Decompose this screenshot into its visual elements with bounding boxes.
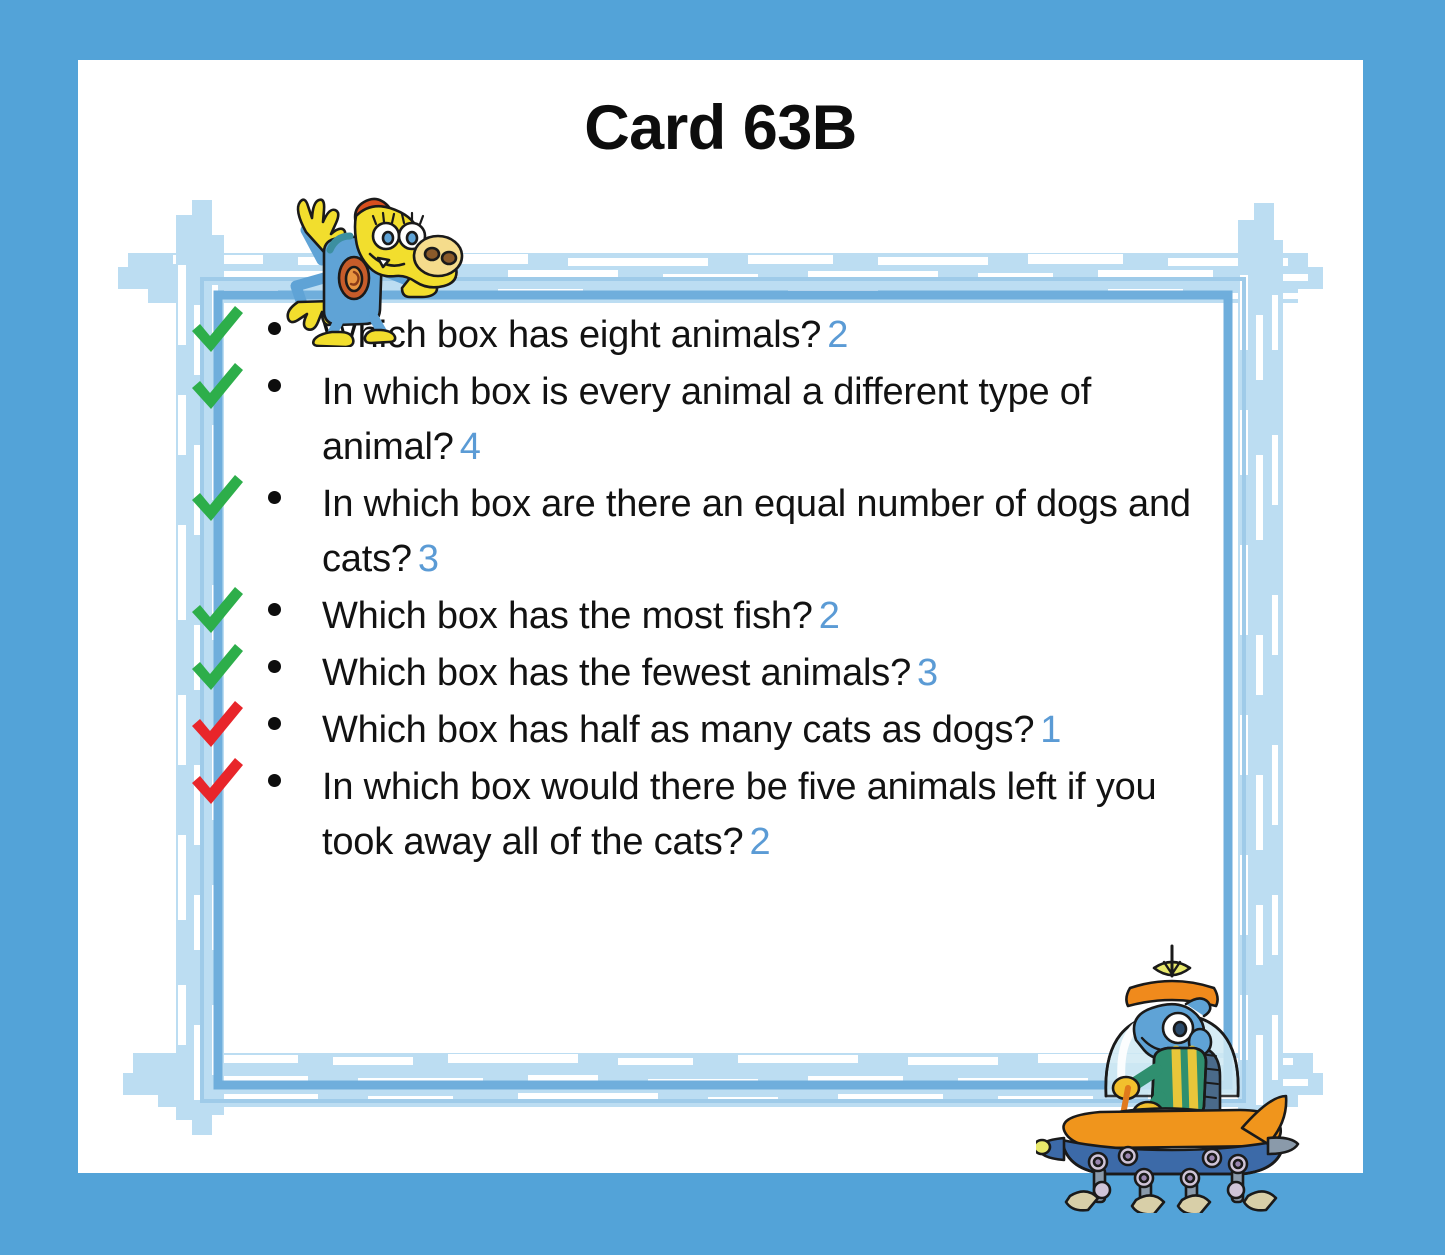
check-red-icon xyxy=(188,699,246,751)
answer-value: 4 xyxy=(460,426,481,468)
question-list: Which box has eight animals?2In which bo… xyxy=(188,308,1253,872)
question-row: Which box has half as many cats as dogs?… xyxy=(188,703,1253,758)
question-text: In which box are there an equal number o… xyxy=(322,477,1227,587)
check-red-icon xyxy=(188,756,246,808)
question-row: In which box are there an equal number o… xyxy=(188,477,1253,587)
check-green-icon xyxy=(188,585,246,637)
question-text: In which box is every animal a different… xyxy=(322,365,1227,475)
check-green-icon xyxy=(188,304,246,356)
bullet-icon xyxy=(268,660,281,673)
question-label: In which box is every animal a different… xyxy=(322,371,1091,468)
question-text: In which box would there be five animals… xyxy=(322,760,1227,870)
answer-value: 3 xyxy=(418,538,439,580)
card-surface: Card 63B xyxy=(78,60,1363,1173)
waving-alien-svg xyxy=(262,182,474,347)
bullet-icon xyxy=(268,603,281,616)
question-label: In which box are there an equal number o… xyxy=(322,483,1191,580)
question-label: Which box has the fewest animals? xyxy=(322,652,911,694)
check-green-icon xyxy=(188,473,246,525)
answer-value: 3 xyxy=(917,652,938,694)
question-row: Which box has the fewest animals?3 xyxy=(188,646,1253,701)
page-title: Card 63B xyxy=(78,92,1363,164)
bullet-icon xyxy=(268,491,281,504)
answer-value: 2 xyxy=(819,595,840,637)
alien-rocket-icon xyxy=(1036,928,1306,1213)
question-text: Which box has the most fish?2 xyxy=(322,589,840,644)
answer-value: 2 xyxy=(749,821,770,863)
question-row: Which box has the most fish?2 xyxy=(188,589,1253,644)
question-row: In which box would there be five animals… xyxy=(188,760,1253,870)
bullet-icon xyxy=(268,717,281,730)
question-label: Which box has the most fish? xyxy=(322,595,813,637)
answer-value: 1 xyxy=(1040,709,1061,751)
answer-value: 2 xyxy=(827,314,848,356)
question-text: Which box has half as many cats as dogs?… xyxy=(322,703,1061,758)
bullet-icon xyxy=(268,774,281,787)
question-label: In which box would there be five animals… xyxy=(322,766,1157,863)
question-row: In which box is every animal a different… xyxy=(188,365,1253,475)
bullet-icon xyxy=(268,379,281,392)
question-label: Which box has half as many cats as dogs? xyxy=(322,709,1034,751)
question-text: Which box has the fewest animals?3 xyxy=(322,646,938,701)
alien-rocket-svg xyxy=(1036,928,1306,1213)
waving-alien-icon xyxy=(262,182,474,347)
check-green-icon xyxy=(188,642,246,694)
check-green-icon xyxy=(188,361,246,413)
